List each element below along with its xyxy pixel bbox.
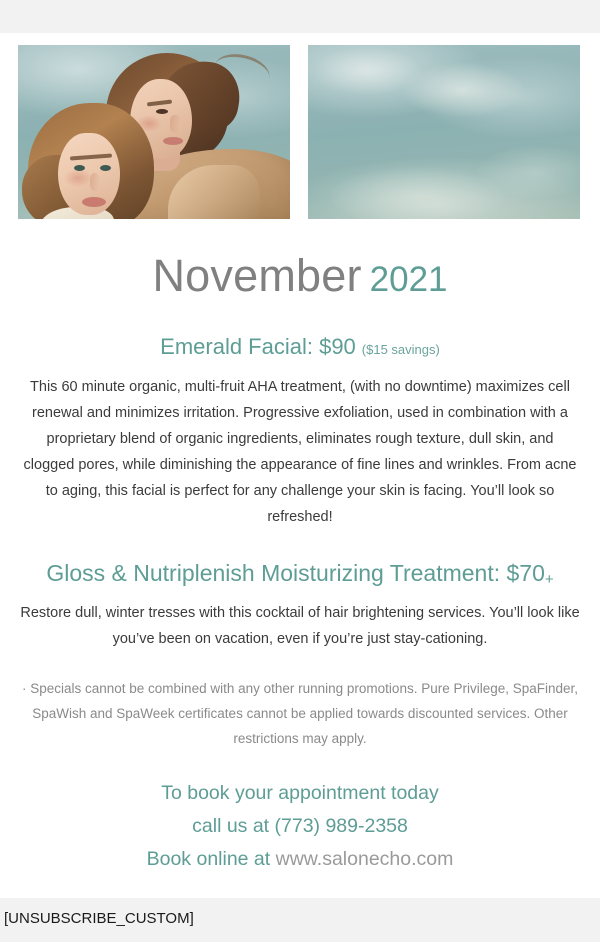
back-woman-eye bbox=[156, 109, 168, 114]
offer-2-heading-plus: + bbox=[545, 571, 554, 588]
cloud bbox=[400, 62, 525, 118]
offer-2-heading: Gloss & Nutriplenish Moisturizing Treatm… bbox=[46, 560, 545, 586]
cta-website-prefix: Book online at bbox=[147, 848, 276, 870]
unsubscribe-link[interactable]: [UNSUBSCRIBE_CUSTOM] bbox=[4, 910, 194, 927]
cta-line-website: Book online at www.salonecho.com bbox=[0, 843, 600, 876]
email-body-card: November2021 Emerald Facial: $90($15 sav… bbox=[0, 33, 600, 898]
offer-2-description: Restore dull, winter tresses with this c… bbox=[20, 600, 580, 652]
cta-line-phone[interactable]: call us at (773) 989-2358 bbox=[0, 810, 600, 843]
newsletter-title: November2021 bbox=[0, 253, 600, 298]
cta-line-book: To book your appointment today bbox=[0, 777, 600, 810]
email-footer: [UNSUBSCRIBE_CUSTOM] bbox=[0, 898, 600, 928]
hero-image-row bbox=[0, 33, 600, 219]
disclaimer-text: Specials cannot be combined with any oth… bbox=[30, 681, 578, 746]
front-woman-eye-right bbox=[100, 165, 111, 171]
disclaimer-bullet: · bbox=[22, 681, 27, 696]
booking-call-to-action: To book your appointment today call us a… bbox=[0, 777, 600, 876]
disclaimer: · Specials cannot be combined with any o… bbox=[17, 676, 583, 751]
front-woman-eye-left bbox=[74, 165, 85, 171]
title-month: November bbox=[152, 250, 361, 301]
hero-image-sky bbox=[308, 45, 580, 219]
back-woman-nose bbox=[170, 115, 182, 133]
offer-2-heading-row: Gloss & Nutriplenish Moisturizing Treatm… bbox=[0, 560, 600, 587]
women-figures bbox=[18, 45, 290, 219]
card-bottom-spacer bbox=[0, 876, 600, 898]
cta-website-link[interactable]: www.salonecho.com bbox=[276, 848, 454, 870]
top-gutter bbox=[0, 0, 600, 33]
offer-1-description: This 60 minute organic, multi-fruit AHA … bbox=[20, 374, 580, 530]
front-woman-nose bbox=[90, 173, 100, 191]
offer-1-heading: Emerald Facial: $90 bbox=[160, 334, 356, 359]
offer-1-heading-row: Emerald Facial: $90($15 savings) bbox=[0, 334, 600, 360]
title-year: 2021 bbox=[370, 260, 448, 299]
email-newsletter: November2021 Emerald Facial: $90($15 sav… bbox=[0, 0, 600, 942]
front-woman-cheek bbox=[64, 169, 92, 187]
offer-1-savings-note: ($15 savings) bbox=[362, 342, 440, 357]
front-woman-lips bbox=[82, 197, 106, 207]
back-woman-lips bbox=[163, 137, 183, 145]
hero-image-women bbox=[18, 45, 290, 219]
